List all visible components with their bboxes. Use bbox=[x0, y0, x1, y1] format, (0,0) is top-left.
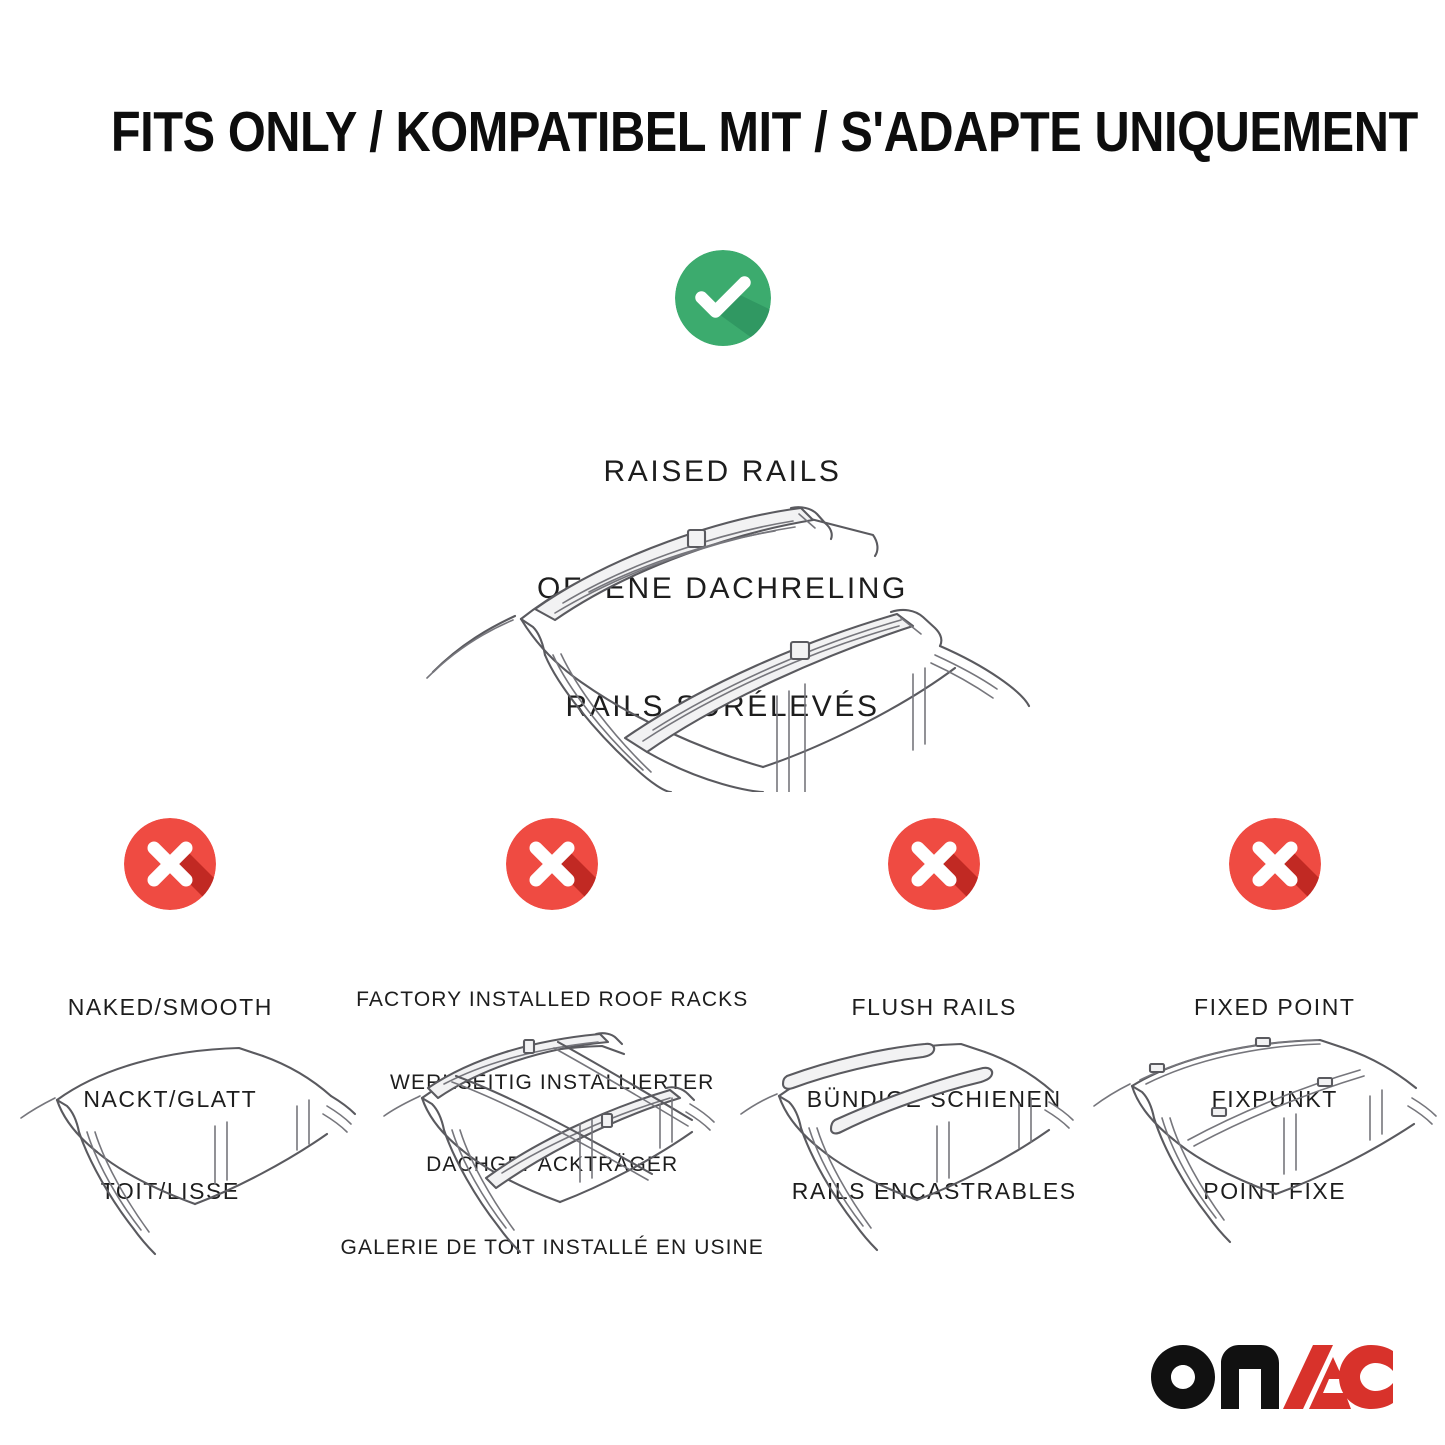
illustration-slot-naked-smooth bbox=[0, 1022, 361, 1260]
incompatible-label-line-en: FLUSH RAILS bbox=[764, 992, 1105, 1023]
cross-circle-icon bbox=[888, 818, 980, 910]
omac-logo bbox=[1151, 1345, 1393, 1409]
car-roof-naked-smooth-illustration bbox=[1, 1022, 361, 1260]
car-roof-fixed-point-illustration bbox=[1084, 1022, 1444, 1260]
check-circle-icon bbox=[675, 250, 771, 346]
incompatible-label-line-en: FACTORY INSTALLED ROOF RACKS bbox=[341, 986, 764, 1014]
cross-circle-icon bbox=[124, 818, 216, 910]
cross-circle-icon bbox=[1229, 818, 1321, 910]
compatible-label-line-en: RAISED RAILS bbox=[0, 452, 1445, 491]
incompatible-illustrations bbox=[0, 1022, 1445, 1260]
incompatible-label-line-en: NAKED/SMOOTH bbox=[0, 992, 341, 1023]
incompatible-label-line-en: FIXED POINT bbox=[1104, 992, 1445, 1023]
cross-glyph bbox=[888, 818, 980, 910]
illustration-slot-flush-rails bbox=[723, 1022, 1084, 1260]
logo-letter-o bbox=[1151, 1345, 1215, 1409]
page-title-text: FITS ONLY / KOMPATIBEL MIT / S'ADAPTE UN… bbox=[111, 104, 1418, 161]
car-roof-factory-roof-racks-illustration bbox=[362, 1022, 722, 1260]
car-roof-flush-rails-illustration bbox=[723, 1022, 1083, 1260]
check-glyph bbox=[675, 250, 771, 346]
car-roof-raised-rails-illustration bbox=[403, 492, 1043, 792]
cross-glyph bbox=[1229, 818, 1321, 910]
illustration-slot-fixed-point bbox=[1084, 1022, 1445, 1260]
cross-circle-icon bbox=[506, 818, 598, 910]
cross-glyph bbox=[506, 818, 598, 910]
illustration-slot-factory-roof-racks bbox=[361, 1022, 722, 1260]
page-title: FITS ONLY / KOMPATIBEL MIT / S'ADAPTE UN… bbox=[0, 104, 1445, 161]
logo-letter-m bbox=[1221, 1345, 1279, 1409]
cross-glyph bbox=[124, 818, 216, 910]
